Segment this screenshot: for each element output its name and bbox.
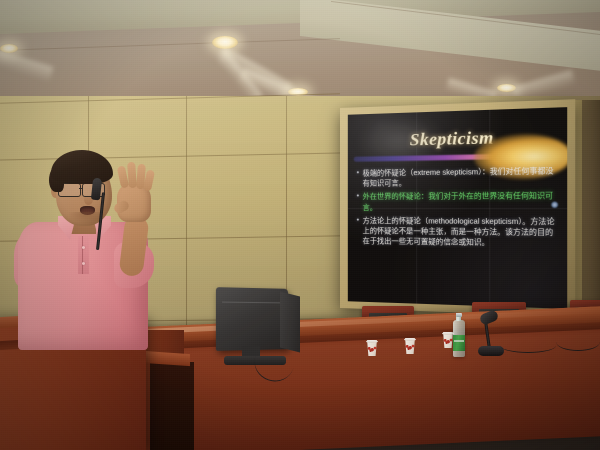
wall-right-shadow: [582, 100, 600, 330]
monitor-side: [280, 292, 300, 353]
hair: [51, 150, 113, 184]
slide-bullet-list: • 极端的怀疑论（extreme skepticism）：我们对任何事都没有知识…: [357, 166, 561, 253]
slide-bullet: • 外在世界的怀疑论：我们对于外在的世界没有任何知识可言。: [357, 191, 561, 213]
bullet-text: 方法论上的怀疑论（methodological skepticism）。方法论上…: [363, 216, 561, 250]
slide-bullet: • 极端的怀疑论（extreme skepticism）：我们对任何事都没有知识…: [357, 166, 561, 190]
ceiling-seam: [0, 38, 340, 51]
paper-cup-1[interactable]: [366, 340, 378, 356]
slide-bullet: • 方法论上的怀疑论（methodological skepticism）。方法…: [357, 216, 561, 250]
projection-screen: Skepticism • 极端的怀疑论（extreme skepticism）：…: [348, 107, 567, 309]
podium-shadow-panel: [150, 362, 194, 450]
water-bottle[interactable]: [452, 313, 465, 357]
monitor-back-panel: [216, 287, 288, 351]
lecture-hall-photo: Skepticism • 极端的怀疑论（extreme skepticism）：…: [0, 0, 600, 450]
bullet-text: 极端的怀疑论（extreme skepticism）：我们对任何事都没有知识可言…: [363, 166, 561, 189]
projection-screen-frame: Skepticism • 极端的怀疑论（extreme skepticism）：…: [340, 99, 575, 317]
gooseneck-microphone[interactable]: [468, 312, 510, 358]
paper-cup-2[interactable]: [404, 338, 416, 354]
bullet-text-highlighted: 外在世界的怀疑论：我们对于外在的世界没有任何知识可言。: [363, 191, 561, 213]
